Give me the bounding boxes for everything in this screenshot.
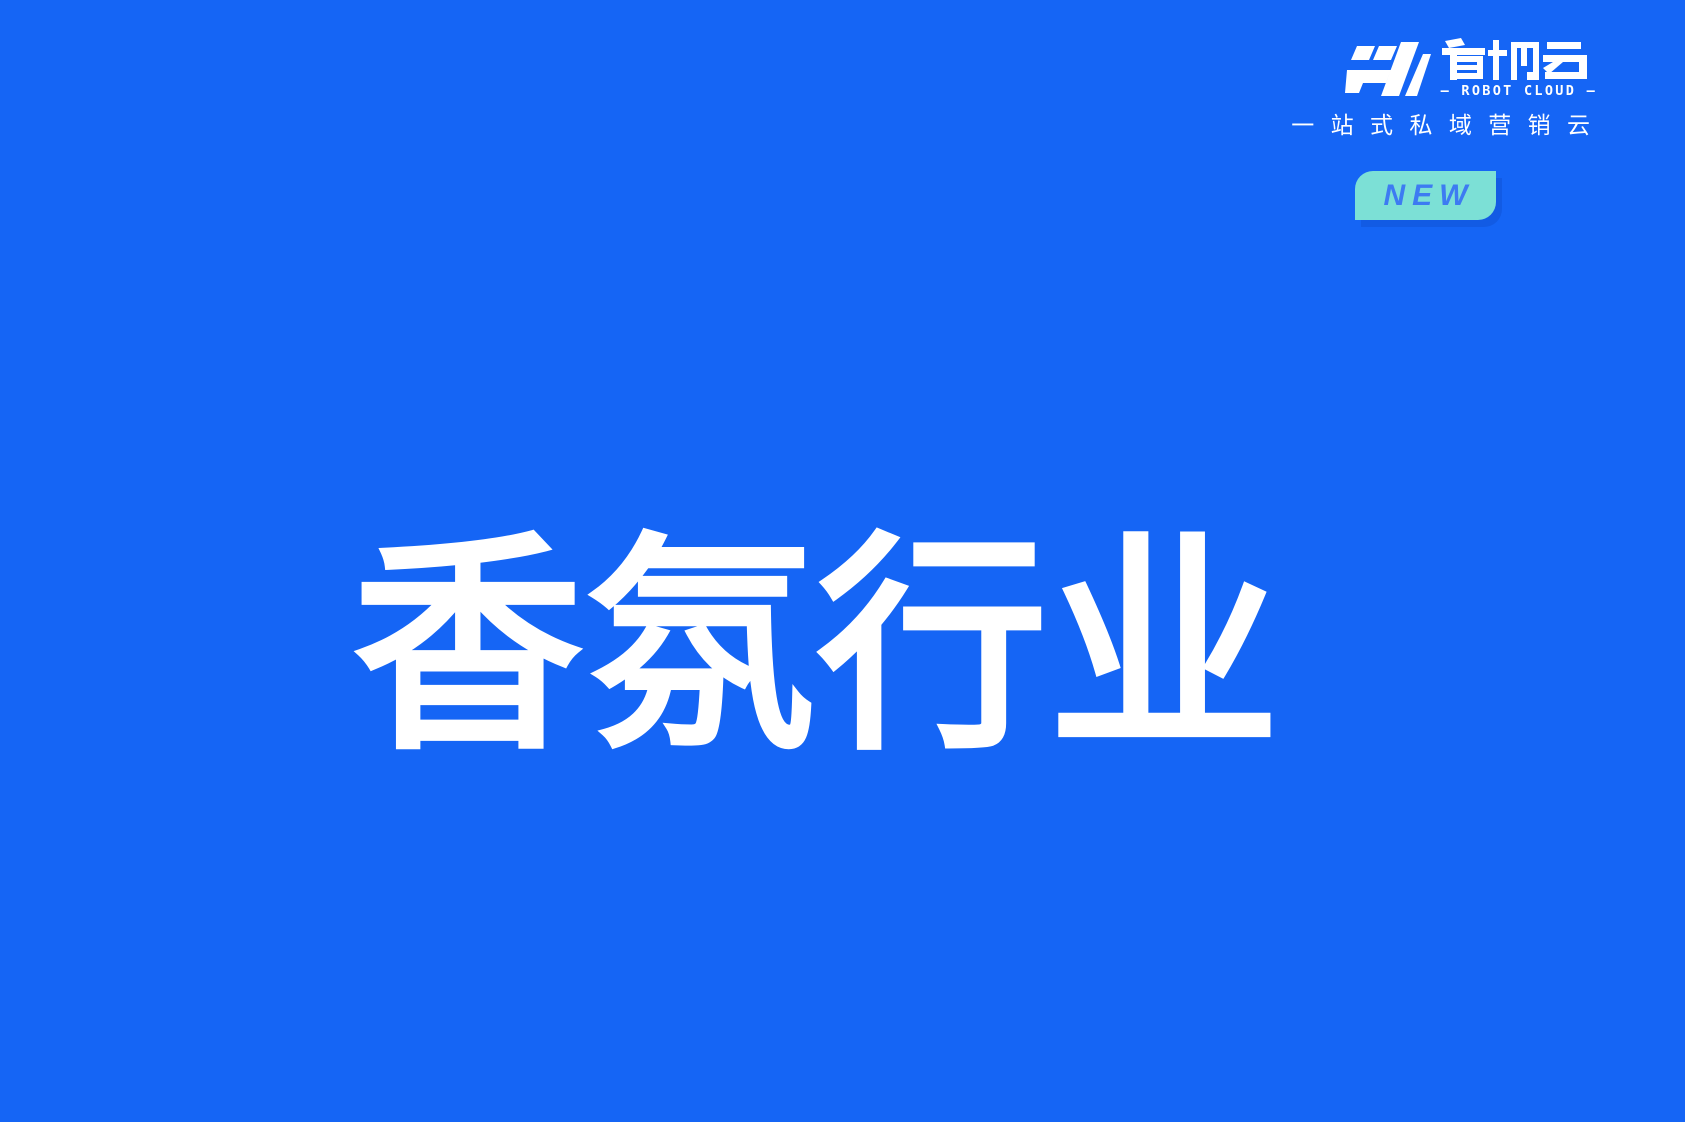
page-title: 香氛行业	[352, 525, 1280, 771]
brand-name-cn-icon	[1441, 36, 1591, 82]
brand-wordmark: — ROBOT CLOUD —	[1441, 36, 1597, 99]
new-badge-label: NEW	[1377, 181, 1475, 211]
brand-name-en: — ROBOT CLOUD —	[1441, 85, 1597, 99]
brand-block: — ROBOT CLOUD — 一 站 式 私 域 营 销 云	[1257, 36, 1597, 137]
new-badge: NEW	[1355, 171, 1496, 220]
slide-canvas: — ROBOT CLOUD — 一 站 式 私 域 营 销 云 NEW 香氛行业	[0, 0, 1685, 1122]
robot-cloud-logo-mark-icon	[1345, 40, 1431, 98]
brand-tagline: 一 站 式 私 域 营 销 云	[1291, 114, 1597, 137]
brand-logo: — ROBOT CLOUD —	[1345, 36, 1597, 98]
